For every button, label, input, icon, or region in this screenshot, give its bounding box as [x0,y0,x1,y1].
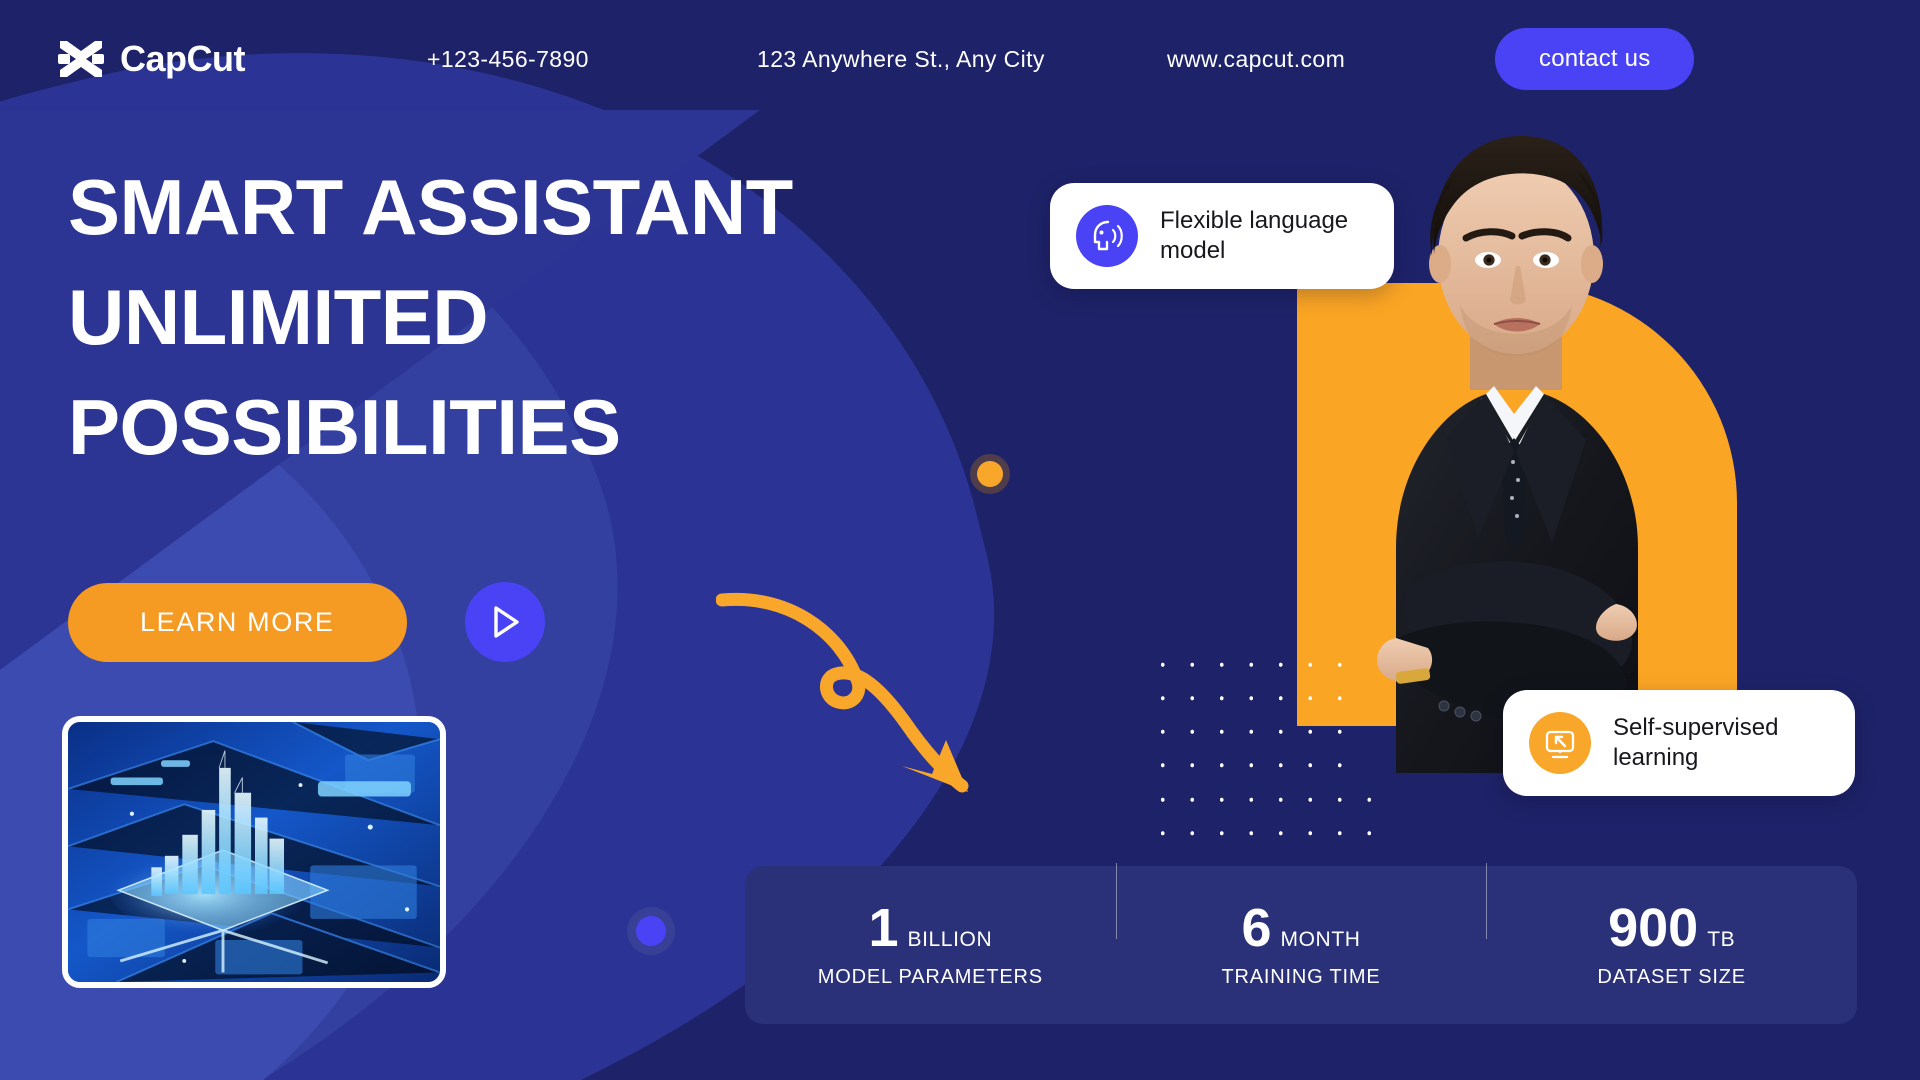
header-phone[interactable]: +123-456-7890 [427,46,697,73]
hero-cta-row: LEARN MORE [68,582,545,662]
curved-arrow-icon [716,578,996,810]
headline-line-2: UNLIMITED [68,278,793,356]
play-triangle-icon [488,604,522,640]
play-video-button[interactable] [465,582,545,662]
headline-line-1: SMART ASSISTANT [68,168,793,246]
stat-label: TRAINING TIME [1116,966,1487,989]
futuristic-circuit-city-art [68,722,440,982]
learn-more-button[interactable]: LEARN MORE [68,583,407,662]
stat-label: DATASET SIZE [1486,966,1857,989]
stat-number: 6 [1241,901,1271,955]
stat-value-group: 1 BILLION [745,901,1116,955]
contact-us-button[interactable]: contact us [1495,28,1694,90]
monitor-arrow-icon-circle [1529,712,1591,774]
speaking-face-icon [1088,217,1126,255]
stat-number: 1 [868,901,898,955]
stat-value-group: 900 TB [1486,901,1857,955]
stat-value-group: 6 MONTH [1116,901,1487,955]
header-address: 123 Anywhere St., Any City [757,46,1087,73]
dot-grid-pattern-lower [1148,783,1383,853]
stat-number: 900 [1608,901,1698,955]
badge-label: Self-supervised learning [1613,713,1821,773]
stat-unit: BILLION [907,928,992,952]
stat-unit: TB [1707,928,1735,952]
stat-unit: MONTH [1281,928,1361,952]
brand-name: CapCut [120,38,245,80]
badge-label: Flexible language model [1160,206,1360,266]
orange-accent-dot [977,461,1003,487]
stat-label: MODEL PARAMETERS [745,966,1116,989]
blue-accent-dot [636,916,666,946]
badge-flexible-language-model[interactable]: Flexible language model [1050,183,1394,289]
monitor-arrow-icon [1541,724,1579,762]
stat-item: 1 BILLION MODEL PARAMETERS [745,901,1116,989]
badge-self-supervised-learning[interactable]: Self-supervised learning [1503,690,1855,796]
hero-headline-group: SMART ASSISTANT UNLIMITED POSSIBILITIES [68,168,793,466]
circuit-city-image-card [62,716,446,988]
header-contact-info: +123-456-7890 123 Anywhere St., Any City… [427,28,1694,90]
stats-panel: 1 BILLION MODEL PARAMETERS 6 MONTH TRAIN… [745,866,1857,1024]
speaking-face-icon-circle [1076,205,1138,267]
brand-logo[interactable]: CapCut [56,37,245,81]
stat-item: 900 TB DATASET SIZE [1486,901,1857,989]
capcut-logo-icon [56,37,106,81]
page-header: CapCut +123-456-7890 123 Anywhere St., A… [0,0,1920,118]
stat-item: 6 MONTH TRAINING TIME [1116,901,1487,989]
header-website[interactable]: www.capcut.com [1167,46,1417,73]
headline-line-3: POSSIBILITIES [68,388,793,466]
